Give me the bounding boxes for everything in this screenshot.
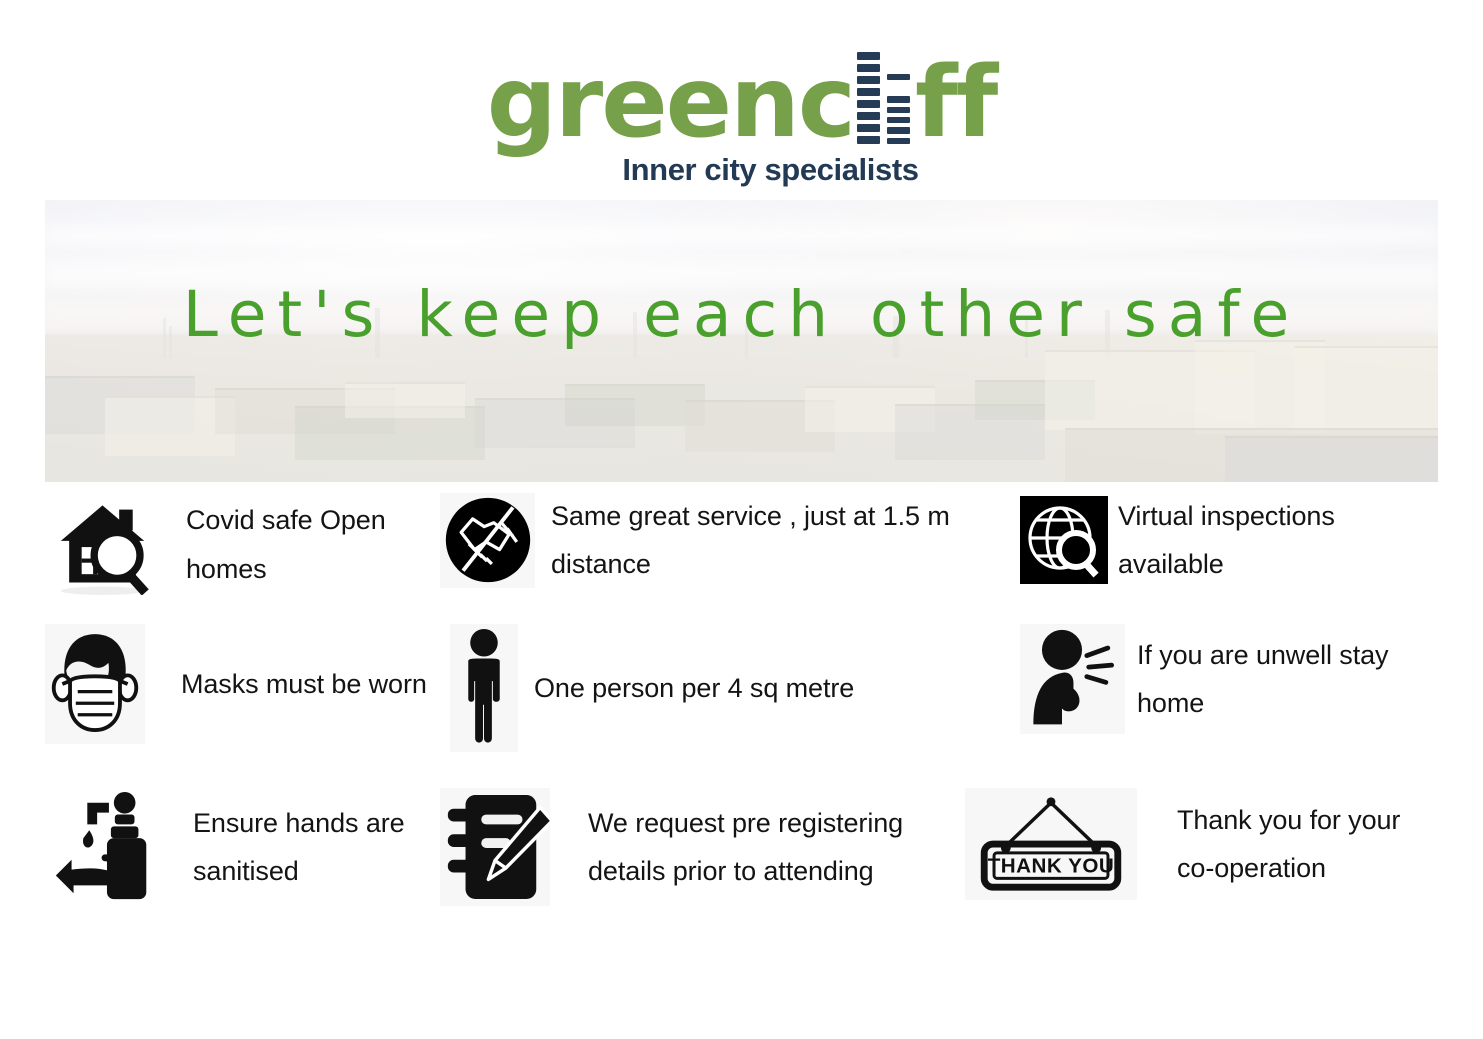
hero-banner: Let's keep each other safe	[45, 200, 1438, 482]
guideline-item-covid-safe-open-homes: Covid safe Open homes	[45, 492, 440, 597]
thank-you-sign-icon: THANK YOU	[965, 788, 1137, 900]
logo-text-ff: ff	[915, 58, 996, 148]
thank-you-sign-text: THANK YOU	[988, 854, 1115, 877]
guideline-item-masks: Masks must be worn	[45, 624, 450, 744]
guideline-label: Thank you for your co-operation	[1177, 796, 1400, 892]
guideline-item-one-person-per-4sqm: One person per 4 sq metre	[450, 624, 1020, 752]
guideline-label: Same great service , just at 1.5 m dista…	[551, 492, 1020, 588]
notepad-pencil-icon	[440, 788, 550, 906]
guideline-label: Virtual inspections available	[1118, 492, 1440, 588]
hero-title: Let's keep each other safe	[45, 278, 1438, 351]
face-mask-icon	[45, 624, 145, 744]
logo-building-towers-icon	[857, 48, 910, 144]
logo-tower-i-icon	[887, 48, 910, 144]
globe-magnifier-icon	[1020, 496, 1108, 584]
guideline-item-pre-registering: We request pre registering details prior…	[440, 788, 965, 906]
guidelines-grid: Covid safe Open homes Same great service…	[45, 492, 1445, 928]
brand-logo: greenc ff Inner city specialists	[0, 0, 1483, 188]
guideline-label: We request pre registering details prior…	[588, 799, 903, 895]
guideline-label: Masks must be worn	[181, 660, 427, 708]
guideline-item-virtual-inspections: Virtual inspections available	[1020, 492, 1440, 588]
coughing-person-icon	[1020, 624, 1125, 734]
logo-wordmark: greenc ff	[487, 52, 997, 148]
house-magnifier-icon	[45, 492, 160, 597]
hand-sanitiser-icon	[45, 788, 165, 906]
guideline-item-hand-sanitiser: Ensure hands are sanitised	[45, 788, 440, 906]
guideline-label: Covid safe Open homes	[186, 496, 440, 592]
logo-tagline: Inner city specialists	[622, 152, 918, 188]
guideline-label: If you are unwell stay home	[1137, 631, 1440, 727]
person-standing-icon	[450, 624, 518, 752]
guideline-item-stay-home-if-unwell: If you are unwell stay home	[1020, 624, 1440, 734]
guideline-item-thank-you: THANK YOU Thank you for your co-operatio…	[965, 788, 1435, 900]
guideline-label: One person per 4 sq metre	[534, 664, 854, 712]
guideline-item-social-distance: Same great service , just at 1.5 m dista…	[440, 492, 1020, 588]
no-handshake-icon	[440, 493, 535, 588]
logo-text-greenc: greenc	[487, 58, 854, 148]
logo-tower-l-icon	[857, 48, 880, 144]
guidelines-row-1: Covid safe Open homes Same great service…	[45, 492, 1445, 612]
guidelines-row-2: Masks must be worn One person per 4 sq m…	[45, 624, 1445, 774]
guideline-label: Ensure hands are sanitised	[193, 799, 405, 895]
guidelines-row-3: Ensure hands are sanitised	[45, 788, 1445, 928]
